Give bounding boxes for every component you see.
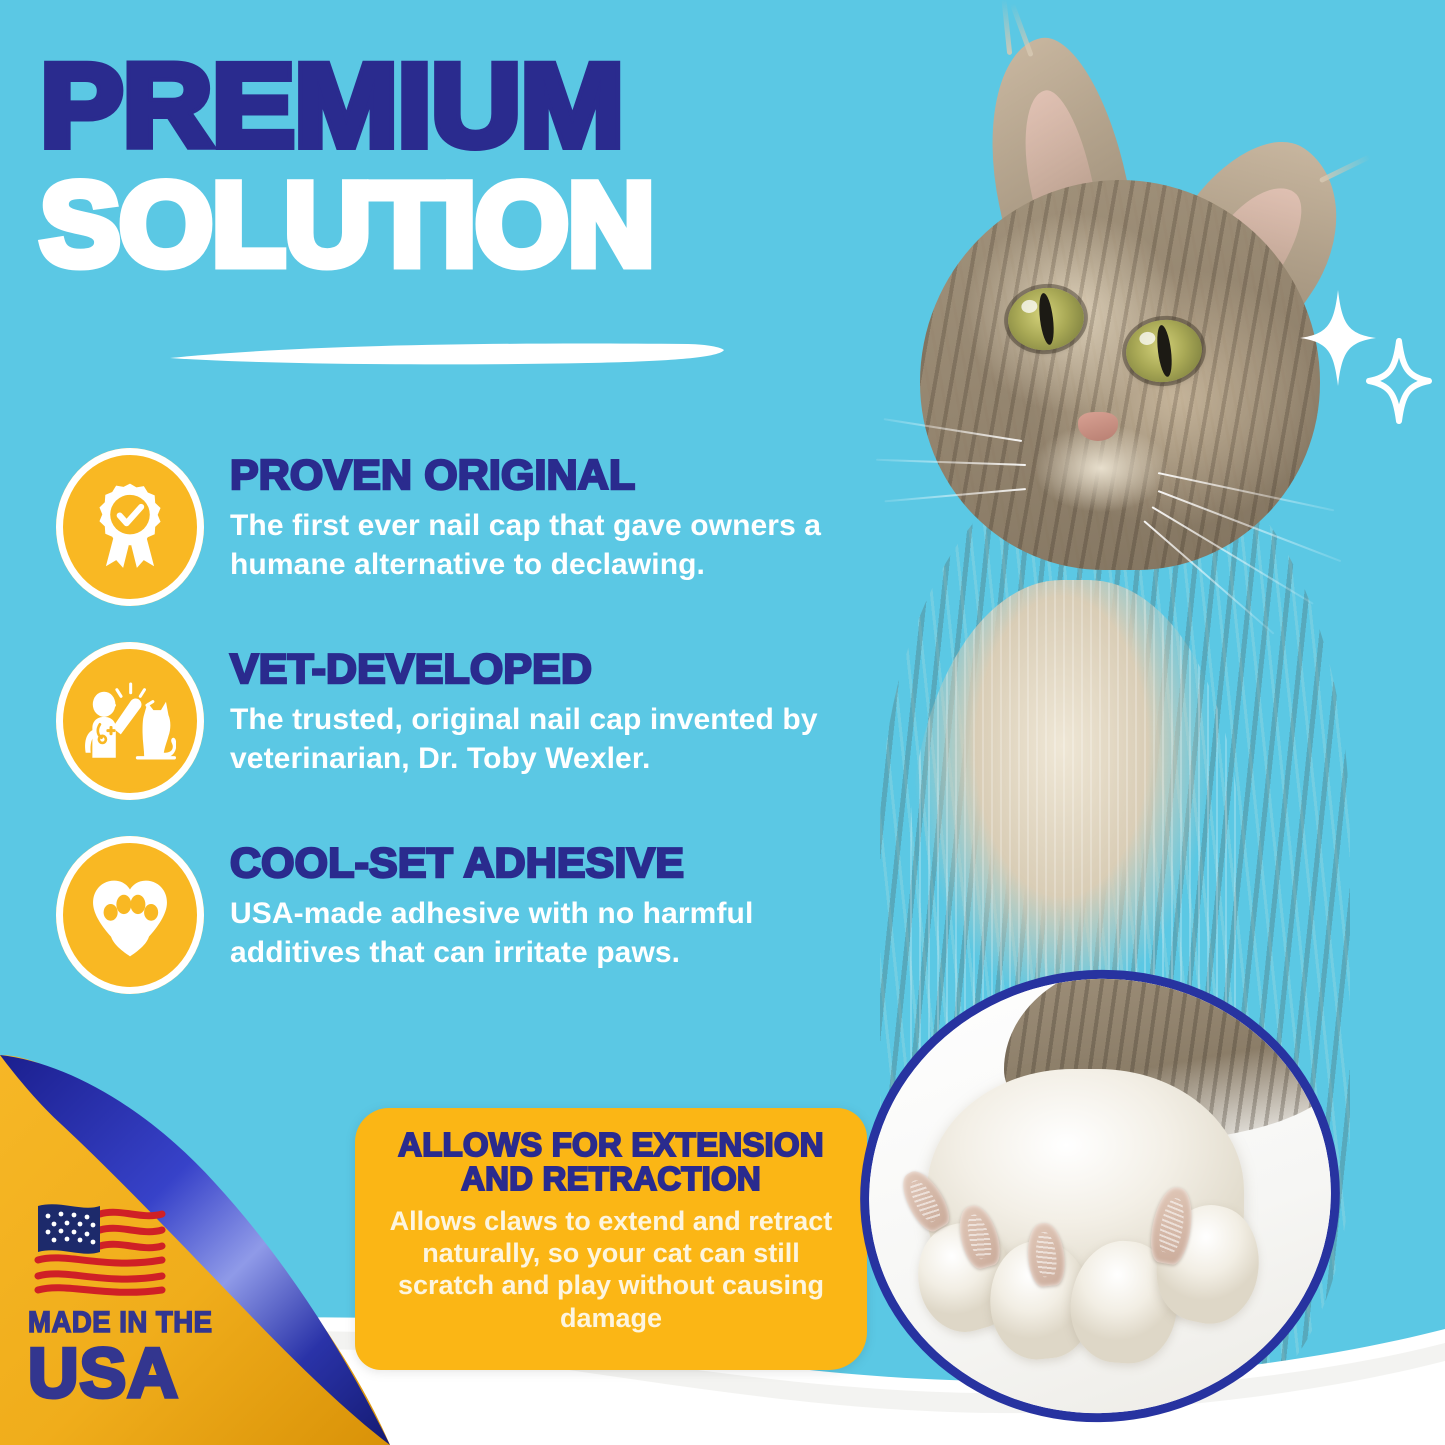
feature-item-proven-original: PROVEN ORIGINAL The first ever nail cap … <box>56 448 846 606</box>
callout-body: Allows claws to extend and retract natur… <box>381 1205 841 1335</box>
headline: PREMIUM SOLUTION <box>40 52 840 282</box>
feature-item-cool-set-adhesive: COOL-SET ADHESIVE USA-made adhesive with… <box>56 836 846 994</box>
white-swoosh-divider <box>168 340 728 366</box>
made-in-the-label: MADE IN THE <box>28 1308 249 1338</box>
made-in-usa-badge: MADE IN THE USA <box>28 1200 268 1407</box>
sparkle-star-outline-icon <box>1366 338 1432 424</box>
feature-body: The trusted, original nail cap invented … <box>230 700 846 778</box>
feature-title: VET-DEVELOPED <box>230 648 858 690</box>
feature-body: USA-made adhesive with no harmful additi… <box>230 894 846 972</box>
feature-item-vet-developed: VET-DEVELOPED The trusted, original nail… <box>56 642 846 800</box>
headline-line-premium: PREMIUM <box>40 52 888 161</box>
sparkle-star-solid-icon <box>1300 290 1376 386</box>
headline-line-solution: SOLUTION <box>40 169 856 282</box>
extension-retraction-callout: ALLOWS FOR EXTENSION AND RETRACTION Allo… <box>355 1108 867 1370</box>
feature-body: The first ever nail cap that gave owners… <box>230 506 846 584</box>
usa-label: USA <box>28 1340 268 1407</box>
vet-highfive-cat-icon <box>56 642 204 800</box>
heart-paw-icon <box>56 836 204 994</box>
award-ribbon-icon <box>56 448 204 606</box>
cat-muzzle <box>1012 424 1190 540</box>
feature-title: PROVEN ORIGINAL <box>230 454 858 496</box>
product-feature-graphic: PREMIUM SOLUTION <box>0 0 1445 1445</box>
paw-inset-photo <box>860 970 1340 1422</box>
feature-list: PROVEN ORIGINAL The first ever nail cap … <box>56 448 846 1030</box>
american-flag-icon <box>28 1200 186 1296</box>
feature-title: COOL-SET ADHESIVE <box>230 842 858 884</box>
callout-title: ALLOWS FOR EXTENSION AND RETRACTION <box>381 1128 841 1197</box>
